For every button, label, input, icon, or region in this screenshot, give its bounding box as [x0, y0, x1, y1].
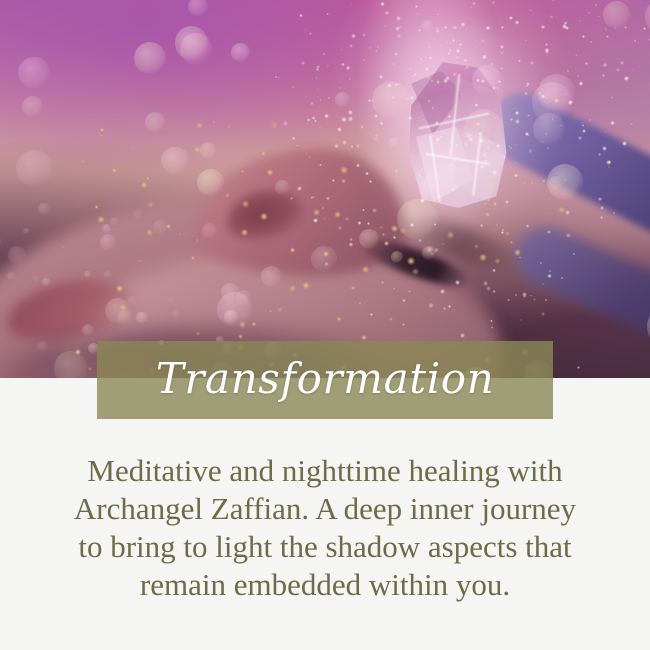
sparkle-dot	[483, 281, 487, 285]
sparkle-dot	[323, 53, 325, 55]
sparkle-dot	[310, 12, 311, 13]
gold-speck	[147, 201, 154, 208]
bokeh-orb	[217, 292, 252, 327]
sparkle-dot	[381, 281, 384, 284]
gold-speck	[389, 317, 393, 321]
gold-speck	[323, 251, 330, 258]
bokeh-orb	[105, 298, 130, 323]
bokeh-orb	[188, 0, 208, 16]
sparkle-dot	[324, 262, 328, 266]
gold-speck	[479, 254, 486, 261]
gold-speck	[132, 146, 134, 148]
sparkle-dot	[402, 299, 405, 302]
sparkle-dot	[522, 292, 527, 297]
bokeh-orb	[7, 272, 15, 280]
gold-speck	[362, 266, 369, 273]
sparkle-dot	[309, 32, 312, 35]
gold-speck	[141, 182, 147, 188]
sparkle-dot	[643, 27, 646, 30]
gold-speck	[313, 209, 320, 216]
gold-speck	[260, 213, 268, 221]
description-line: to bring to light the shadow aspects tha…	[25, 528, 625, 566]
bokeh-orb	[42, 278, 51, 287]
gold-speck	[507, 299, 510, 302]
gold-speck	[267, 169, 274, 176]
sparkle-dot	[634, 40, 635, 41]
gold-speck	[271, 121, 278, 128]
gold-speck	[393, 287, 395, 289]
gold-speck	[196, 239, 198, 241]
sparkle-dot	[316, 65, 320, 69]
gold-speck	[486, 286, 491, 291]
gold-speck	[146, 229, 153, 236]
bokeh-orb	[102, 224, 111, 233]
gold-speck	[119, 304, 126, 311]
gold-speck	[179, 233, 181, 235]
sparkle-dot	[310, 102, 314, 106]
bokeh-orb	[172, 310, 180, 318]
bokeh-orb	[231, 43, 250, 62]
sparkle-dot	[455, 280, 460, 285]
gold-speck	[62, 246, 64, 248]
gold-speck	[239, 321, 245, 327]
bokeh-orb	[18, 57, 49, 88]
sparkle-dot	[370, 313, 374, 317]
bokeh-orb	[175, 26, 209, 60]
bokeh-orb	[134, 42, 166, 74]
sparkle-dot	[316, 77, 317, 78]
gold-speck	[302, 282, 310, 290]
sparkle-dot	[296, 145, 297, 146]
bokeh-orb	[221, 283, 240, 302]
hero-photo	[0, 0, 650, 378]
gold-speck	[520, 319, 522, 321]
bokeh-orb	[100, 234, 115, 249]
gold-speck	[138, 260, 141, 263]
gold-speck	[196, 122, 203, 129]
sparkle-dot	[283, 121, 288, 126]
gold-speck	[100, 128, 104, 132]
bokeh-orb	[197, 169, 225, 197]
gold-speck	[170, 299, 172, 301]
bokeh-orb	[391, 251, 403, 263]
sparkle-dot	[275, 76, 277, 78]
gold-speck	[88, 367, 92, 371]
gold-speck	[225, 193, 230, 198]
sparkle-dot	[324, 218, 325, 219]
bokeh-orb	[136, 312, 147, 323]
sparkle-dot	[542, 283, 544, 285]
sparkle-dot	[490, 320, 493, 323]
sparkle-dot	[313, 196, 315, 198]
sparkle-dot	[307, 118, 310, 121]
sparkle-dot	[336, 257, 337, 258]
sparkle-dot	[540, 262, 542, 264]
sparkle-dot	[549, 270, 551, 272]
sparkle-dot	[319, 164, 321, 166]
bokeh-orb	[54, 351, 87, 378]
bokeh-orb	[200, 142, 216, 158]
bokeh-orb	[275, 180, 290, 195]
bokeh-orb	[645, 0, 650, 35]
bokeh-orb	[22, 96, 44, 118]
bokeh-orb	[127, 296, 138, 307]
bokeh-orb	[16, 150, 53, 187]
bokeh-orb	[236, 290, 251, 305]
bokeh-orb	[133, 209, 143, 219]
sparkle-dot	[299, 14, 303, 18]
bokeh-orb	[38, 203, 50, 215]
sparkle-dot	[545, 299, 547, 301]
title-banner: Transformation	[97, 341, 553, 419]
sparkle-dot	[351, 286, 355, 290]
sparkle-dot	[292, 137, 296, 141]
sparkle-dot	[492, 290, 495, 293]
gold-speck	[242, 200, 250, 208]
gold-speck	[166, 224, 172, 230]
sparkle-dot	[359, 302, 361, 304]
sparkle-dot	[530, 295, 531, 296]
sparkle-dot	[326, 13, 328, 15]
sparkle-dot	[278, 77, 280, 79]
gold-speck	[261, 151, 267, 157]
bokeh-orb	[153, 220, 167, 234]
sparkle-dot	[492, 269, 496, 273]
sparkle-dot	[309, 156, 311, 158]
sparkle-dot	[312, 116, 315, 119]
sparkle-dot	[314, 120, 316, 122]
gold-speck	[289, 285, 296, 292]
description-text: Meditative and nighttime healing with Ar…	[25, 452, 625, 604]
gold-speck	[116, 285, 123, 292]
bokeh-orb	[180, 33, 212, 65]
sparkle-dot	[515, 294, 517, 296]
gold-speck	[361, 335, 367, 341]
sparkle-dot	[292, 86, 294, 88]
gold-speck	[75, 349, 81, 355]
sparkle-dot	[440, 289, 445, 294]
gold-speck	[147, 177, 149, 179]
bokeh-orb	[224, 310, 238, 324]
sparkle-dot	[460, 333, 465, 338]
gold-speck	[252, 322, 256, 326]
sparkle-dot	[408, 290, 411, 293]
gold-speck	[402, 323, 405, 326]
gold-speck	[269, 310, 272, 313]
bokeh-orb	[110, 217, 119, 226]
sparkle-field	[0, 0, 650, 378]
gold-speck	[577, 366, 580, 369]
sparkle-dot	[313, 218, 318, 223]
gold-speck	[228, 126, 230, 128]
sparkle-dot	[630, 123, 633, 126]
gold-speck	[533, 298, 536, 301]
gold-speck	[407, 257, 415, 265]
gold-speck	[97, 216, 105, 224]
sparkle-dot	[305, 29, 306, 30]
gold-speck	[238, 334, 242, 338]
bokeh-orb	[33, 276, 39, 282]
sparkle-dot	[290, 197, 293, 200]
gold-speck	[95, 205, 99, 209]
bokeh-orb	[23, 228, 29, 234]
bokeh-orb	[0, 238, 2, 247]
sparkle-dot	[301, 61, 305, 65]
sparkle-dot	[491, 326, 494, 329]
sparkle-dot	[428, 303, 433, 308]
bokeh-orb	[84, 271, 91, 278]
sparkle-dot	[316, 68, 319, 71]
gold-speck	[213, 121, 216, 124]
sparkle-dot	[327, 65, 330, 68]
bokeh-orb	[117, 310, 132, 325]
gold-speck	[337, 317, 341, 321]
sparkle-dot	[297, 186, 302, 191]
gold-speck	[241, 170, 243, 172]
gold-speck	[191, 256, 195, 260]
gold-speck	[194, 146, 201, 153]
bokeh-orb	[37, 341, 48, 352]
sparkle-dot	[311, 196, 314, 199]
gold-speck	[112, 168, 117, 173]
transformation-card: Transformation Meditative and nighttime …	[0, 0, 650, 650]
description-line: Archangel Zaffian. A deep inner journey	[25, 490, 625, 528]
gold-speck	[412, 268, 419, 275]
sparkle-dot	[448, 305, 451, 308]
sparkle-dot	[324, 114, 329, 119]
bokeh-orb	[104, 271, 111, 278]
sparkle-dot	[632, 69, 633, 70]
gold-speck	[241, 229, 248, 236]
gold-speck	[495, 258, 500, 263]
sparkle-dot	[431, 253, 433, 255]
sparkle-dot	[573, 253, 575, 255]
sparkle-dot	[320, 99, 321, 100]
sparkle-dot	[519, 257, 520, 258]
bokeh-orb	[278, 308, 282, 312]
gold-speck	[82, 160, 84, 162]
gold-speck	[541, 312, 545, 316]
bokeh-orb	[202, 223, 218, 239]
sparkle-dot	[322, 207, 324, 209]
shimmer-cluster	[330, 0, 630, 250]
description-line: remain embedded within you.	[25, 566, 625, 604]
sparkle-dot	[443, 307, 447, 311]
page-title: Transformation	[156, 358, 495, 400]
sparkle-dot	[547, 274, 552, 279]
gold-speck	[523, 295, 526, 298]
bokeh-orb	[8, 246, 26, 264]
gold-speck	[319, 126, 322, 129]
gold-speck	[100, 134, 103, 137]
bokeh-orb	[82, 324, 94, 336]
bokeh-orb	[161, 147, 189, 175]
bokeh-orb	[261, 266, 282, 287]
gold-speck	[196, 331, 201, 336]
sparkle-dot	[317, 89, 318, 90]
sparkle-dot	[561, 277, 563, 279]
gold-speck	[290, 247, 295, 252]
description-line: Meditative and nighttime healing with	[25, 452, 625, 490]
bokeh-orb	[145, 112, 165, 132]
